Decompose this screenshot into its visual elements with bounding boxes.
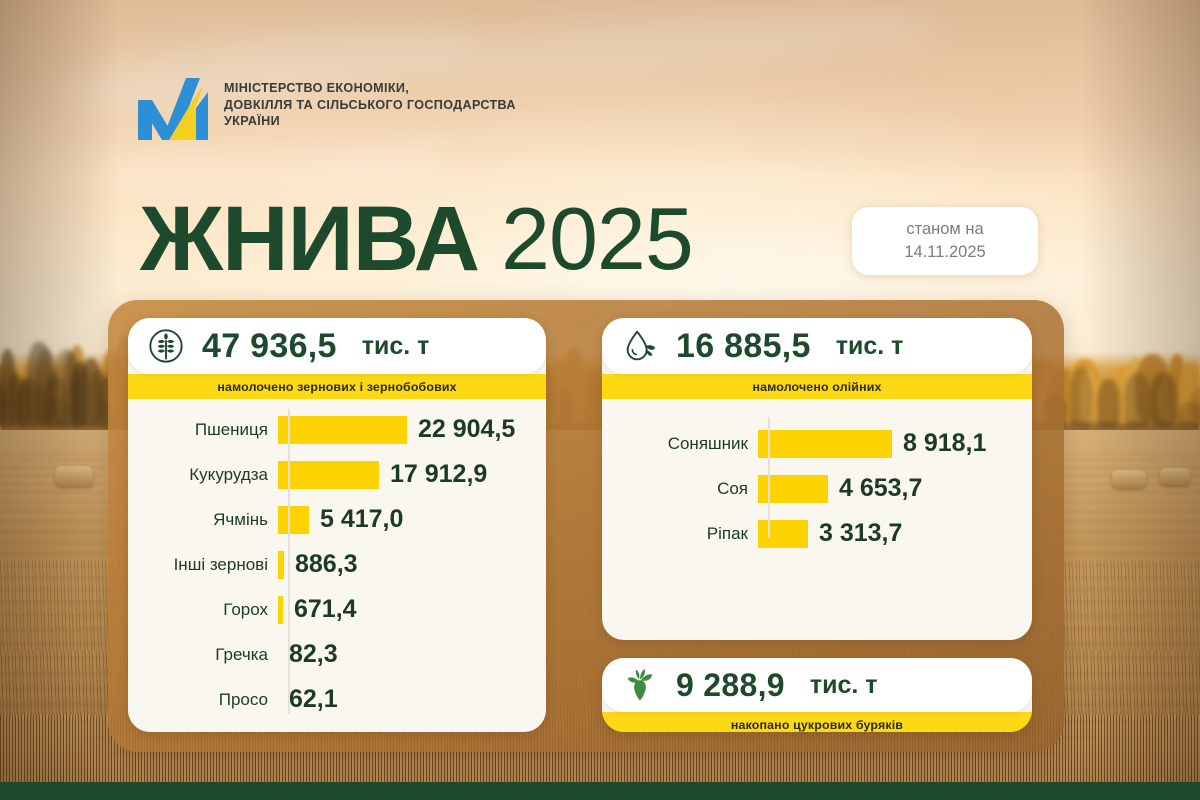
- chart-row: Ячмінь5 417,0: [128, 497, 546, 542]
- chart-row: Соняшник8 918,1: [602, 421, 1032, 466]
- chart-row-value: 671,4: [294, 595, 357, 624]
- chart-row: Гречка82,3: [128, 632, 546, 677]
- chart-bar: [758, 520, 808, 548]
- oilseed-bar-chart: Соняшник8 918,1Соя4 653,7Ріпак3 313,7: [602, 399, 1032, 556]
- chart-row: Інші зернові886,3: [128, 542, 546, 587]
- sugar-beet-card-header: 9 288,9 тис. т: [602, 658, 1032, 712]
- sugar-beet-icon: [620, 665, 660, 705]
- date-prefix: станом на: [906, 218, 983, 241]
- chart-row-label: Інші зернові: [128, 555, 278, 575]
- chart-row-value: 22 904,5: [418, 415, 515, 444]
- chart-bar: [278, 416, 407, 444]
- oilseed-card-caption: намолочено олійних: [602, 374, 1032, 399]
- chart-row-label: Горох: [128, 600, 278, 620]
- oilseed-card-header: 16 885,5 тис. т: [602, 318, 1032, 374]
- chart-bar: [278, 461, 379, 489]
- chart-row-value: 3 313,7: [819, 519, 902, 548]
- oilseed-total-value: 16 885,5: [676, 327, 811, 366]
- chart-row-value: 8 918,1: [903, 429, 986, 458]
- chart-row: Ріпак3 313,7: [602, 511, 1032, 556]
- ministry-header: МІНІСТЕРСТВО ЕКОНОМІКИ, ДОВКІЛЛЯ ТА СІЛЬ…: [138, 78, 516, 140]
- chart-axis-line: [288, 409, 290, 714]
- chart-row-label: Просо: [128, 690, 278, 710]
- chart-row: Кукурудза17 912,9: [128, 452, 546, 497]
- bottom-green-bar: [0, 782, 1200, 800]
- chart-row-value: 886,3: [295, 550, 358, 579]
- chart-row-value: 5 417,0: [320, 505, 403, 534]
- page-title: ЖНИВА 2025: [140, 193, 693, 285]
- chart-axis-line: [768, 417, 770, 538]
- wheat-in-circle-icon: [146, 326, 186, 366]
- oilseed-card: 16 885,5 тис. т намолочено олійних Соняш…: [602, 318, 1032, 640]
- oilseed-total-unit: тис. т: [836, 332, 904, 361]
- chart-row-label: Ріпак: [602, 524, 758, 544]
- chart-row: Горох671,4: [128, 587, 546, 632]
- chart-row-value: 17 912,9: [390, 460, 487, 489]
- ministry-m-logo: [138, 78, 208, 140]
- chart-row-value: 62,1: [289, 685, 338, 714]
- chart-row-value: 4 653,7: [839, 474, 922, 503]
- chart-bar: [278, 596, 283, 624]
- sugar-beet-total-unit: тис. т: [810, 671, 878, 700]
- grain-total-unit: тис. т: [362, 332, 430, 361]
- date-value: 14.11.2025: [904, 241, 985, 264]
- grain-card: 47 936,5 тис. т намолочено зернових і зе…: [128, 318, 546, 732]
- chart-bar: [758, 430, 892, 458]
- chart-row-label: Кукурудза: [128, 465, 278, 485]
- as-of-date-badge: станом на 14.11.2025: [852, 207, 1038, 275]
- chart-row-value: 82,3: [289, 640, 338, 669]
- grain-card-header: 47 936,5 тис. т: [128, 318, 546, 374]
- grain-bar-chart: Пшениця22 904,5Кукурудза17 912,9Ячмінь5 …: [128, 399, 546, 722]
- chart-row-label: Соняшник: [602, 434, 758, 454]
- chart-row-label: Пшениця: [128, 420, 278, 440]
- chart-bar: [278, 506, 309, 534]
- sugar-beet-card: 9 288,9 тис. т накопано цукрових буряків: [602, 658, 1032, 732]
- chart-row: Соя4 653,7: [602, 466, 1032, 511]
- title-year: 2025: [501, 195, 693, 283]
- ministry-name: МІНІСТЕРСТВО ЕКОНОМІКИ, ДОВКІЛЛЯ ТА СІЛЬ…: [224, 78, 516, 130]
- oil-droplet-leaf-icon: [620, 326, 660, 366]
- title-main: ЖНИВА: [140, 193, 479, 285]
- chart-row-label: Ячмінь: [128, 510, 278, 530]
- sugar-beet-total-value: 9 288,9: [676, 667, 785, 704]
- chart-row-label: Гречка: [128, 645, 278, 665]
- sugar-beet-card-caption: накопано цукрових буряків: [602, 712, 1032, 732]
- grain-total-value: 47 936,5: [202, 327, 337, 366]
- chart-bar: [278, 551, 284, 579]
- chart-row: Просо62,1: [128, 677, 546, 722]
- chart-row-label: Соя: [602, 479, 758, 499]
- chart-row: Пшениця22 904,5: [128, 407, 546, 452]
- grain-card-caption: намолочено зернових і зернобобових: [128, 374, 546, 399]
